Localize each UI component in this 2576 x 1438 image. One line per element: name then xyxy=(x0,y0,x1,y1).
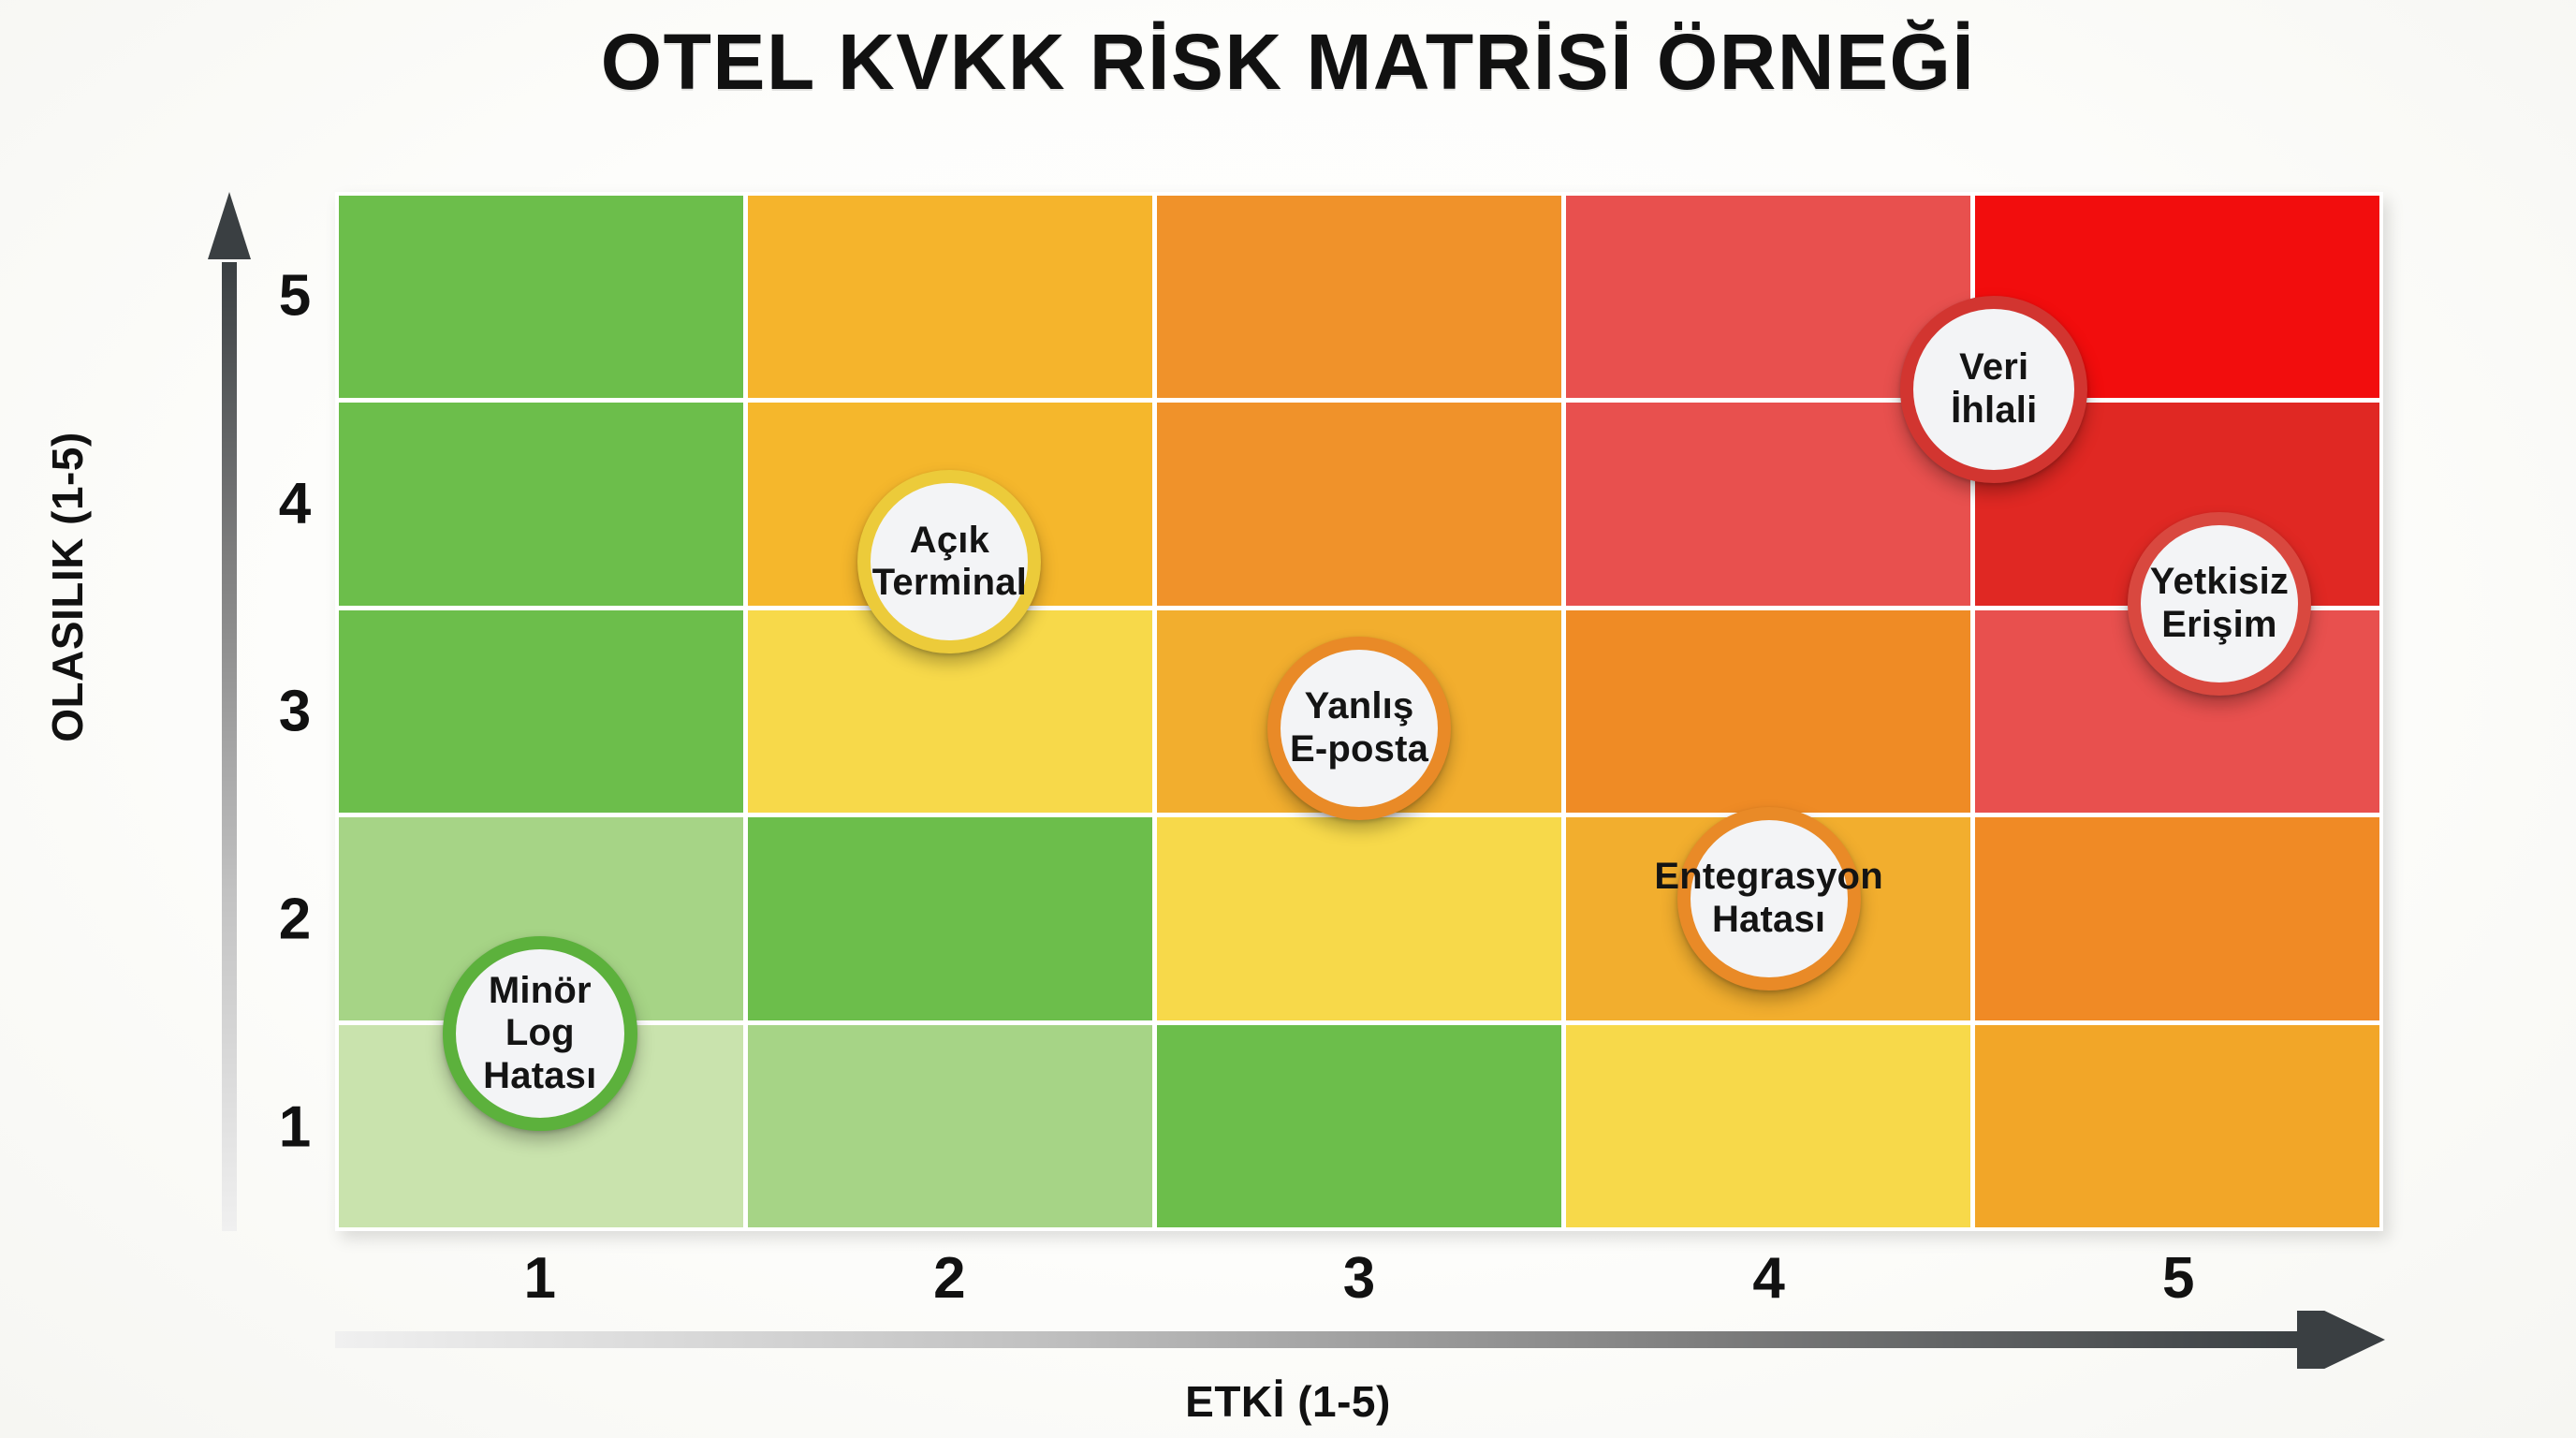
page-title: OTEL KVKK RİSK MATRİSİ ÖRNEĞİ xyxy=(0,17,2576,108)
matrix-cell-i5-p2[interactable] xyxy=(1975,817,2379,1020)
x-axis-tick-5: 5 xyxy=(2103,1245,2253,1312)
risk-bubble[interactable]: AçıkTerminal xyxy=(857,470,1041,653)
impact-axis-arrow xyxy=(335,1311,2385,1369)
y-axis-tick-1: 1 xyxy=(253,1094,337,1161)
y-axis-tick-3: 3 xyxy=(253,679,337,745)
matrix-cell-i4-p3[interactable] xyxy=(1566,610,1970,813)
matrix-cell-i4-p4[interactable] xyxy=(1566,403,1970,605)
risk-bubble[interactable]: Veriİhlali xyxy=(1900,296,2087,483)
x-axis-tick-3: 3 xyxy=(1284,1245,1434,1312)
risk-bubble-label: AçıkTerminal xyxy=(867,520,1032,605)
risk-bubble[interactable]: YetkisizErişim xyxy=(2128,512,2311,696)
matrix-cell-i5-p1[interactable] xyxy=(1975,1025,2379,1227)
risk-bubble-label: EntegrasyonHatası xyxy=(1648,856,1889,941)
matrix-cell-i1-p4[interactable] xyxy=(339,403,743,605)
y-axis-title: OLASILIK (1-5) xyxy=(42,344,93,830)
matrix-cell-i3-p1[interactable] xyxy=(1157,1025,1561,1227)
matrix-cell-i2-p1[interactable] xyxy=(748,1025,1152,1227)
matrix-cell-i2-p2[interactable] xyxy=(748,817,1152,1020)
matrix-cell-i1-p3[interactable] xyxy=(339,610,743,813)
y-axis-tick-2: 2 xyxy=(253,887,337,953)
risk-bubble-label: Minör LogHatası xyxy=(456,970,624,1098)
risk-bubble-label: YanlışE-posta xyxy=(1284,685,1434,770)
matrix-cell-i4-p1[interactable] xyxy=(1566,1025,1970,1227)
risk-bubble-label: Veriİhlali xyxy=(1945,346,2042,432)
risk-bubble[interactable]: Minör LogHatası xyxy=(443,936,637,1131)
risk-bubble-label: YetkisizErişim xyxy=(2144,561,2294,646)
matrix-cell-i3-p2[interactable] xyxy=(1157,817,1561,1020)
matrix-cell-i1-p5[interactable] xyxy=(339,196,743,398)
x-axis-tick-1: 1 xyxy=(465,1245,615,1312)
x-axis-title: ETKİ (1-5) xyxy=(0,1376,2576,1427)
x-axis-tick-4: 4 xyxy=(1694,1245,1844,1312)
probability-axis-arrow xyxy=(208,192,251,1231)
risk-bubble[interactable]: YanlışE-posta xyxy=(1267,637,1451,820)
matrix-cell-i3-p5[interactable] xyxy=(1157,196,1561,398)
risk-bubble[interactable]: EntegrasyonHatası xyxy=(1677,807,1861,990)
y-axis-tick-5: 5 xyxy=(253,263,337,330)
matrix-cell-i3-p4[interactable] xyxy=(1157,403,1561,605)
y-axis-tick-4: 4 xyxy=(253,471,337,537)
x-axis-tick-2: 2 xyxy=(874,1245,1024,1312)
matrix-cell-i2-p5[interactable] xyxy=(748,196,1152,398)
